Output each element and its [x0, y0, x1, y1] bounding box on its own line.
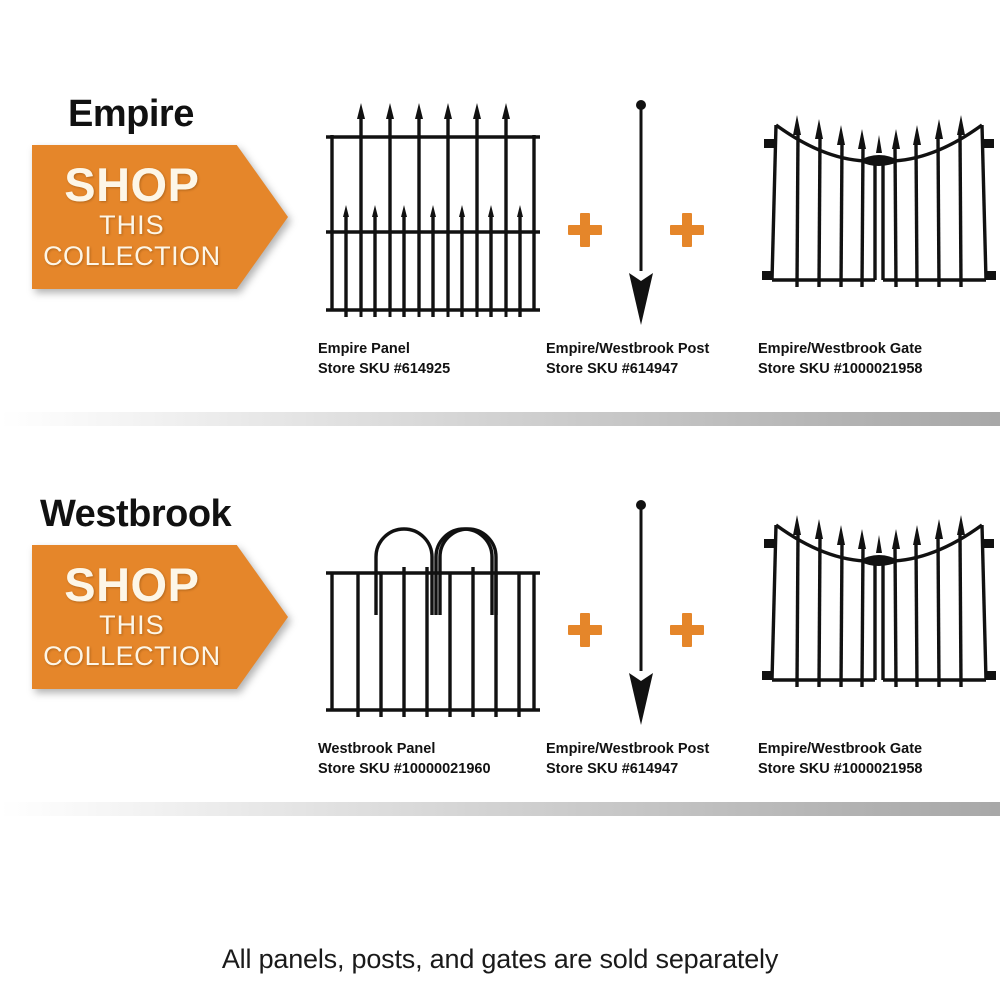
- banner-labels: SHOP THIS COLLECTION: [32, 145, 232, 289]
- promo-westbrook: Westbrook SHOP THIS COLLECTION: [32, 495, 322, 689]
- empire-panel-sku: Store SKU #614925: [318, 360, 450, 380]
- empire-post-name: Empire/Westbrook Post: [546, 340, 709, 360]
- empire-post-sku: Store SKU #614947: [546, 360, 709, 380]
- product-empire-gate[interactable]: Empire/Westbrook Gate Store SKU #1000021…: [758, 95, 1000, 325]
- westbrook-gate-caption: Empire/Westbrook Gate Store SKU #1000021…: [758, 740, 922, 779]
- empire-gate-sku: Store SKU #1000021958: [758, 360, 922, 380]
- promo-empire: Empire SHOP THIS COLLECTION: [32, 95, 322, 289]
- plus-icon: [670, 213, 704, 247]
- product-row-westbrook: Westbrook Panel Store SKU #10000021960 E…: [318, 495, 1000, 795]
- empire-westbrook-post-illustration: [546, 95, 736, 325]
- product-empire-post[interactable]: Empire/Westbrook Post Store SKU #614947: [546, 95, 736, 325]
- shop-this-collection-banner-westbrook[interactable]: SHOP THIS COLLECTION: [32, 545, 288, 689]
- westbrook-panel-name: Westbrook Panel: [318, 740, 491, 760]
- empire-westbrook-post-illustration: [546, 495, 736, 725]
- collection-title-westbrook: Westbrook: [40, 495, 322, 533]
- empire-panel-illustration: [318, 95, 548, 325]
- westbrook-panel-illustration: [318, 495, 548, 725]
- collection-section-empire: Empire SHOP THIS COLLECTION: [0, 95, 1000, 395]
- westbrook-post-sku: Store SKU #614947: [546, 760, 709, 780]
- banner-shop-label: SHOP: [64, 162, 199, 208]
- empire-westbrook-gate-illustration: [758, 95, 1000, 325]
- banner-collection-label: COLLECTION: [43, 641, 221, 672]
- empire-panel-name: Empire Panel: [318, 340, 450, 360]
- westbrook-panel-caption: Westbrook Panel Store SKU #10000021960: [318, 740, 491, 779]
- collection-title-empire: Empire: [68, 95, 322, 133]
- banner-shop-label: SHOP: [64, 562, 199, 608]
- section-divider: [0, 412, 1000, 426]
- empire-post-caption: Empire/Westbrook Post Store SKU #614947: [546, 340, 709, 379]
- empire-gate-name: Empire/Westbrook Gate: [758, 340, 922, 360]
- collection-section-westbrook: Westbrook SHOP THIS COLLECTION: [0, 495, 1000, 795]
- product-row-empire: Empire Panel Store SKU #614925 Empire/We…: [318, 95, 1000, 395]
- product-empire-panel[interactable]: Empire Panel Store SKU #614925: [318, 95, 548, 325]
- product-westbrook-gate[interactable]: Empire/Westbrook Gate Store SKU #1000021…: [758, 495, 1000, 725]
- empire-panel-caption: Empire Panel Store SKU #614925: [318, 340, 450, 379]
- plus-icon: [670, 613, 704, 647]
- banner-this-label: THIS: [99, 610, 165, 641]
- product-comparison-page: Empire SHOP THIS COLLECTION: [0, 0, 1000, 1000]
- product-westbrook-post[interactable]: Empire/Westbrook Post Store SKU #614947: [546, 495, 736, 725]
- footer-disclaimer: All panels, posts, and gates are sold se…: [0, 944, 1000, 975]
- westbrook-gate-sku: Store SKU #1000021958: [758, 760, 922, 780]
- shop-this-collection-banner-empire[interactable]: SHOP THIS COLLECTION: [32, 145, 288, 289]
- product-westbrook-panel[interactable]: Westbrook Panel Store SKU #10000021960: [318, 495, 548, 725]
- section-divider: [0, 802, 1000, 816]
- westbrook-post-caption: Empire/Westbrook Post Store SKU #614947: [546, 740, 709, 779]
- banner-this-label: THIS: [99, 210, 165, 241]
- banner-collection-label: COLLECTION: [43, 241, 221, 272]
- empire-westbrook-gate-illustration: [758, 495, 1000, 725]
- westbrook-post-name: Empire/Westbrook Post: [546, 740, 709, 760]
- banner-labels: SHOP THIS COLLECTION: [32, 545, 232, 689]
- empire-gate-caption: Empire/Westbrook Gate Store SKU #1000021…: [758, 340, 922, 379]
- westbrook-panel-sku: Store SKU #10000021960: [318, 760, 491, 780]
- westbrook-gate-name: Empire/Westbrook Gate: [758, 740, 922, 760]
